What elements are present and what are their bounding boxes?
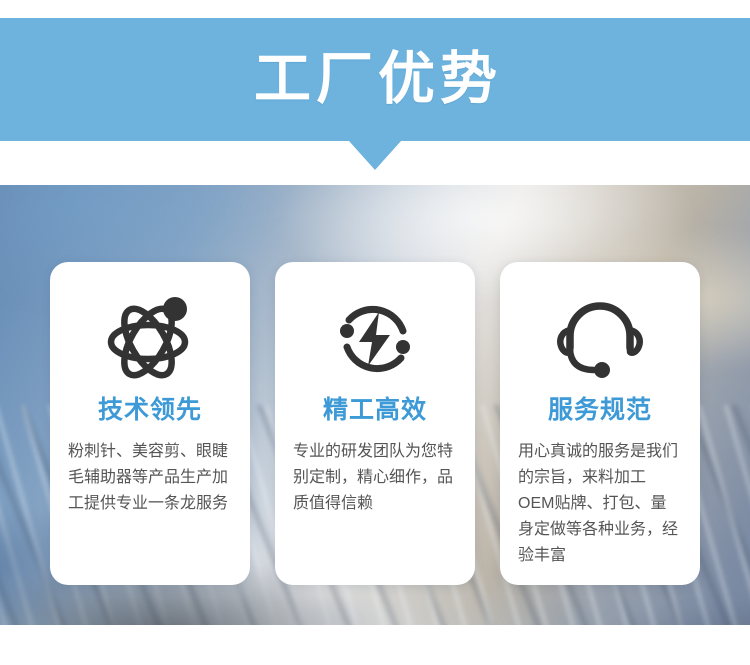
advantage-card-service[interactable]: 服务规范 用心真诚的服务是我们的宗旨，来料加工OEM贴牌、打包、量身定做等各种业… xyxy=(500,262,700,585)
advantage-card-description: 粉刺针、美容剪、眼睫毛辅助器等产品生产加工提供专业一条龙服务 xyxy=(66,439,234,517)
advantage-card-efficiency[interactable]: 精工高效 专业的研发团队为您特别定制，精心细作，品质值得信赖 xyxy=(275,262,475,585)
advantage-card-list: 技术领先 粉刺针、美容剪、眼睫毛辅助器等产品生产加工提供专业一条龙服务 精工高效… xyxy=(50,262,700,585)
banner: 工厂优势 xyxy=(0,18,750,141)
factory-advantages-page: 工厂优势 技术领先 粉刺针、美容剪、眼睫毛辅助器等产品生 xyxy=(0,0,750,665)
advantage-card-title: 服务规范 xyxy=(516,398,684,423)
banner-arrow-icon xyxy=(349,141,401,170)
atom-icon xyxy=(66,282,234,394)
advantage-card-technology[interactable]: 技术领先 粉刺针、美容剪、眼睫毛辅助器等产品生产加工提供专业一条龙服务 xyxy=(50,262,250,585)
advantage-card-description: 专业的研发团队为您特别定制，精心细作，品质值得信赖 xyxy=(291,439,459,517)
headset-icon xyxy=(516,282,684,394)
advantage-card-title: 技术领先 xyxy=(66,398,234,423)
page-title: 工厂优势 xyxy=(0,18,750,141)
advantage-card-description: 用心真诚的服务是我们的宗旨，来料加工OEM贴牌、打包、量身定做等各种业务，经验丰… xyxy=(516,439,684,569)
lightning-circle-icon xyxy=(291,282,459,394)
advantage-card-title: 精工高效 xyxy=(291,398,459,423)
